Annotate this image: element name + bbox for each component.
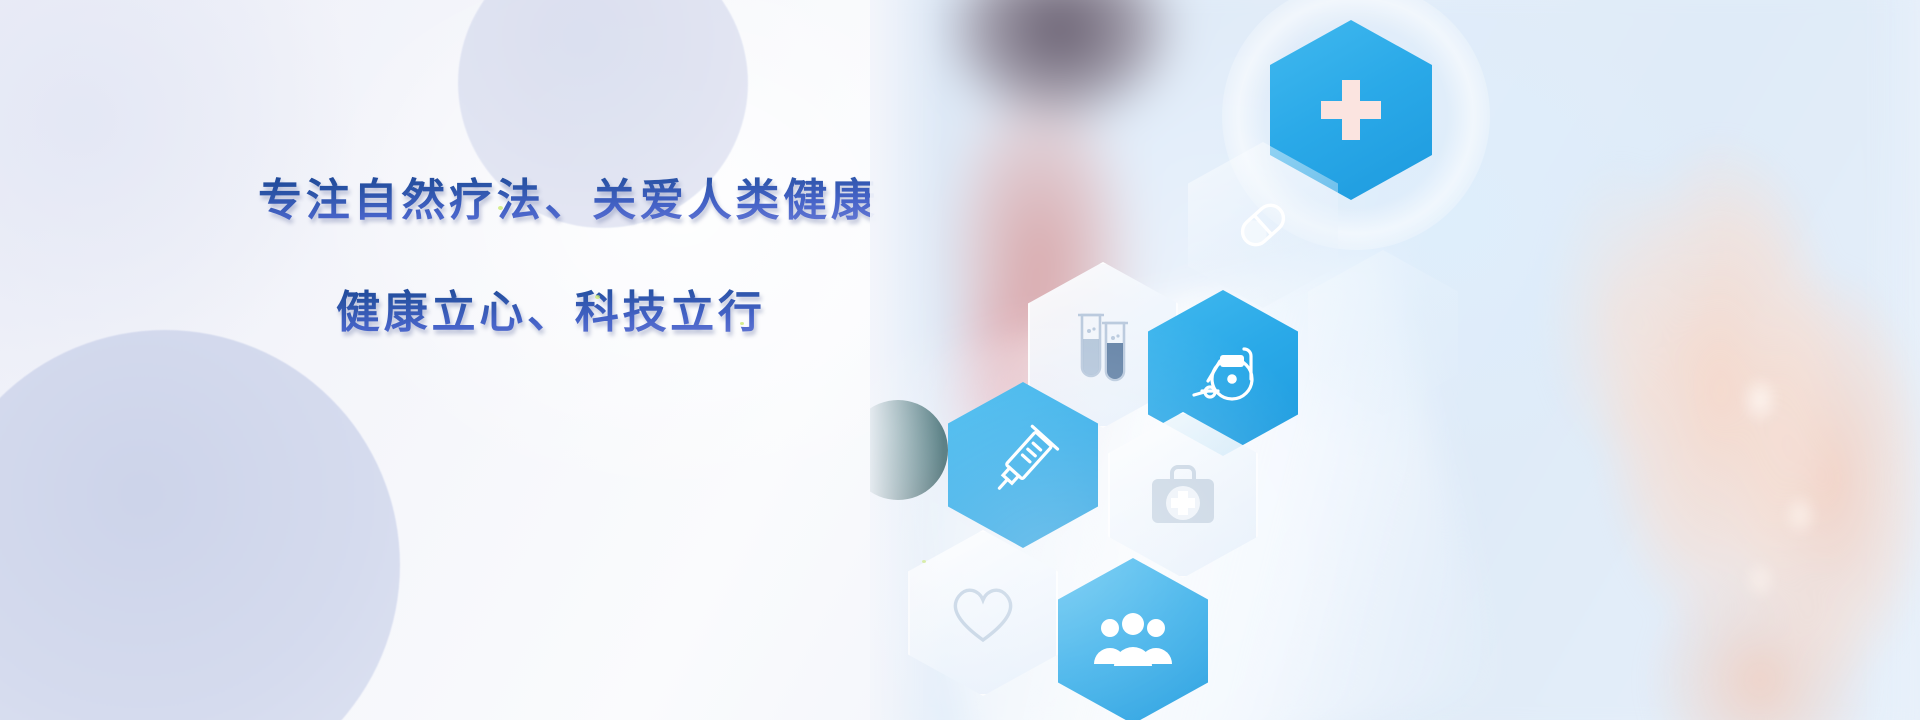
people-group-icon xyxy=(1090,612,1176,670)
hexagon-people-group xyxy=(1058,558,1208,720)
capsule-pill-icon xyxy=(1224,186,1302,264)
hexagon-decorative xyxy=(1308,250,1458,416)
medical-hexagon-cluster xyxy=(870,0,1920,720)
sparkle-speck xyxy=(498,206,503,210)
heart-icon xyxy=(945,578,1021,648)
test-tubes-icon xyxy=(1066,305,1140,385)
syringe-icon xyxy=(982,424,1064,506)
hero-photo-panel xyxy=(870,0,1920,720)
sparkle-speck xyxy=(740,322,744,325)
sparkle-speck xyxy=(595,295,600,299)
sparkle-speck xyxy=(922,560,926,563)
first-aid-kit-icon xyxy=(1142,459,1224,531)
wheelchair-icon xyxy=(1182,335,1264,411)
hexagon-heart xyxy=(908,530,1058,696)
decorative-circle-bottom xyxy=(0,330,400,720)
medical-cross-icon xyxy=(1315,74,1387,146)
hero-banner: 专注自然疗法、关爱人类健康 健康立心、科技立行 xyxy=(0,0,1920,720)
